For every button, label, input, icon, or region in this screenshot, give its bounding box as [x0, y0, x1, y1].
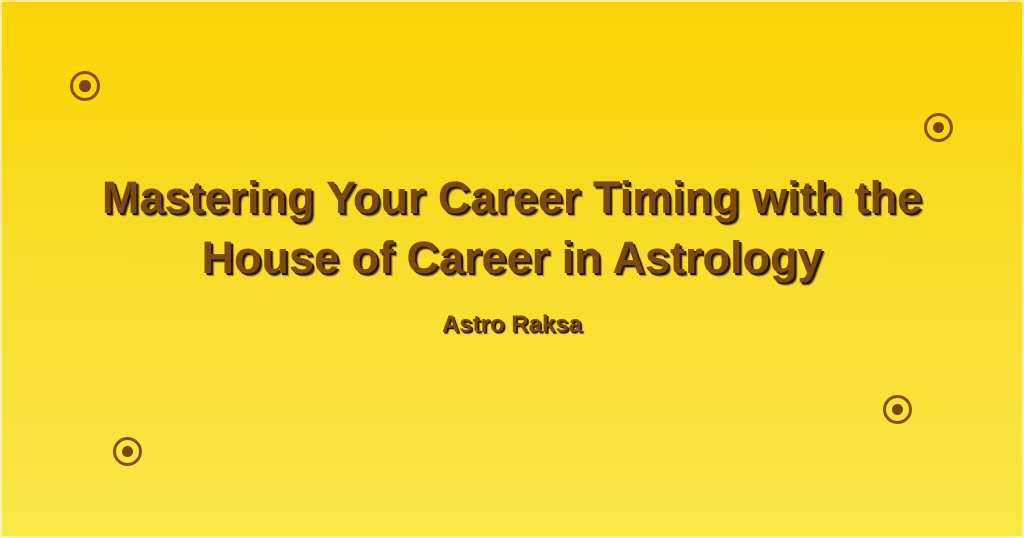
slide-subtitle: Astro Raksa — [0, 310, 1024, 340]
title-slide: Mastering Your Career Timing with the Ho… — [0, 0, 1024, 538]
ring-dot-icon-bottom-left — [113, 437, 142, 466]
ring-dot-icon-center — [79, 80, 91, 92]
ring-dot-icon-center — [892, 404, 903, 415]
ring-dot-icon-top-right — [924, 113, 953, 142]
ring-dot-icon-bottom-right — [883, 395, 912, 424]
slide-title: Mastering Your Career Timing with the Ho… — [0, 168, 1024, 288]
ring-dot-icon-center — [933, 122, 944, 133]
slide-text-block: Mastering Your Career Timing with the Ho… — [0, 168, 1024, 340]
ring-dot-icon-center — [122, 446, 133, 457]
ring-dot-icon-top-left — [70, 71, 100, 101]
